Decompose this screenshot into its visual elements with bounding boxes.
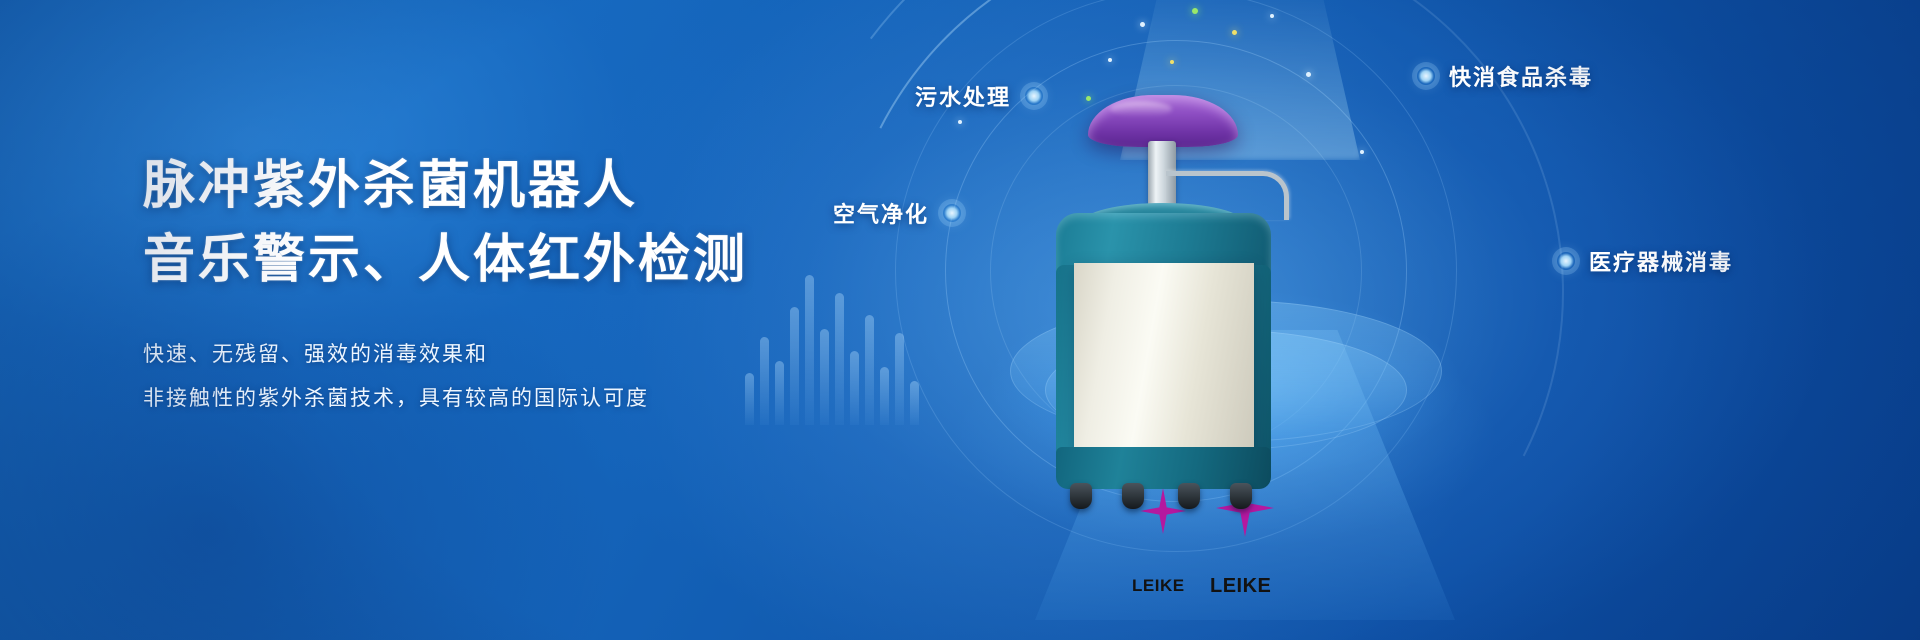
sparkle (1270, 14, 1274, 18)
feature-label-medical: 医疗器械消毒 (1557, 245, 1733, 277)
sparkle (1140, 22, 1145, 27)
feature-label-wastewater: 污水处理 (915, 80, 1043, 112)
feature-label-air: 空气净化 (833, 197, 961, 229)
caster-wheel (1230, 483, 1252, 509)
node-dot-icon (1557, 252, 1575, 270)
sparkle (1232, 30, 1237, 35)
feature-label-text: 快消食品杀毒 (1449, 60, 1593, 92)
caster-wheel (1070, 483, 1092, 509)
sparkle (958, 120, 962, 124)
uv-disinfection-robot: LEIKE LEIKE (1038, 95, 1308, 505)
headline-line-1: 脉冲紫外杀菌机器人 (143, 150, 863, 224)
caster-wheel (1178, 483, 1200, 509)
sparkle (1360, 150, 1364, 154)
sparkle (1192, 8, 1198, 14)
subtext-line-2: 非接触性的紫外杀菌技术，具有较高的国际认可度 (143, 376, 863, 420)
subtext-block: 快速、无残留、强效的消毒效果和 非接触性的紫外杀菌技术，具有较高的国际认可度 (143, 332, 863, 420)
headline-line-2: 音乐警示、人体红外检测 (143, 224, 863, 298)
front-panel: LEIKE LEIKE (1074, 263, 1254, 455)
caster-wheel (1122, 483, 1144, 509)
feature-label-text: 空气净化 (833, 197, 929, 229)
uv-dome-lamp-icon (1088, 95, 1238, 147)
node-dot-icon (943, 204, 961, 222)
brand-text-right: LEIKE (1210, 575, 1271, 598)
feature-label-text: 污水处理 (915, 80, 1011, 112)
sparkle (1306, 72, 1311, 77)
sparkle (1108, 58, 1112, 62)
node-dot-icon (1025, 87, 1043, 105)
subtext-line-1: 快速、无残留、强效的消毒效果和 (143, 332, 863, 376)
brand-text-left: LEIKE (1132, 576, 1185, 596)
copy-block: 脉冲紫外杀菌机器人 音乐警示、人体红外检测 快速、无残留、强效的消毒效果和 非接… (143, 150, 863, 420)
feature-label-text: 医疗器械消毒 (1589, 245, 1733, 277)
feature-label-food: 快消食品杀毒 (1417, 60, 1593, 92)
promo-banner: 脉冲紫外杀菌机器人 音乐警示、人体红外检测 快速、无残留、强效的消毒效果和 非接… (0, 0, 1920, 640)
sparkle (1170, 60, 1174, 64)
node-dot-icon (1417, 67, 1435, 85)
